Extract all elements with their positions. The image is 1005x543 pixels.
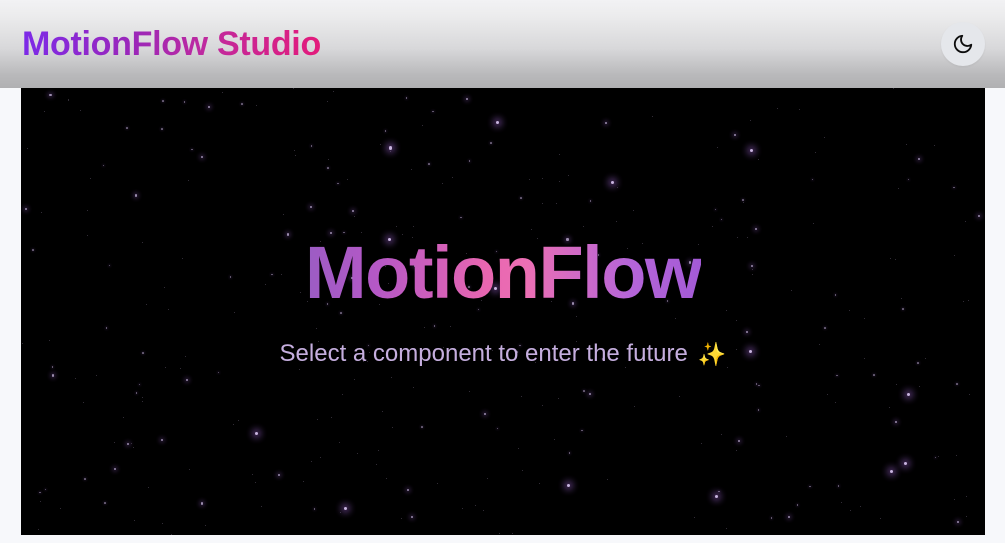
app-root: MotionFlow Studio MotionFlow Select a co… bbox=[0, 0, 1005, 543]
hero-title: MotionFlow bbox=[305, 236, 701, 310]
moon-icon bbox=[952, 33, 974, 55]
hero-content: MotionFlow Select a component to enter t… bbox=[21, 88, 985, 535]
hero-subtitle-text: Select a component to enter the future bbox=[280, 340, 688, 369]
hero-stage: MotionFlow Select a component to enter t… bbox=[21, 88, 985, 535]
theme-toggle-button[interactable] bbox=[941, 22, 985, 66]
page-title: MotionFlow Studio bbox=[22, 27, 321, 61]
sparkles-icon: ✨ bbox=[698, 343, 727, 366]
hero-subtitle: Select a component to enter the future ✨ bbox=[280, 340, 727, 369]
page-bottom-strip bbox=[0, 535, 1005, 543]
app-header: MotionFlow Studio bbox=[0, 0, 1005, 88]
